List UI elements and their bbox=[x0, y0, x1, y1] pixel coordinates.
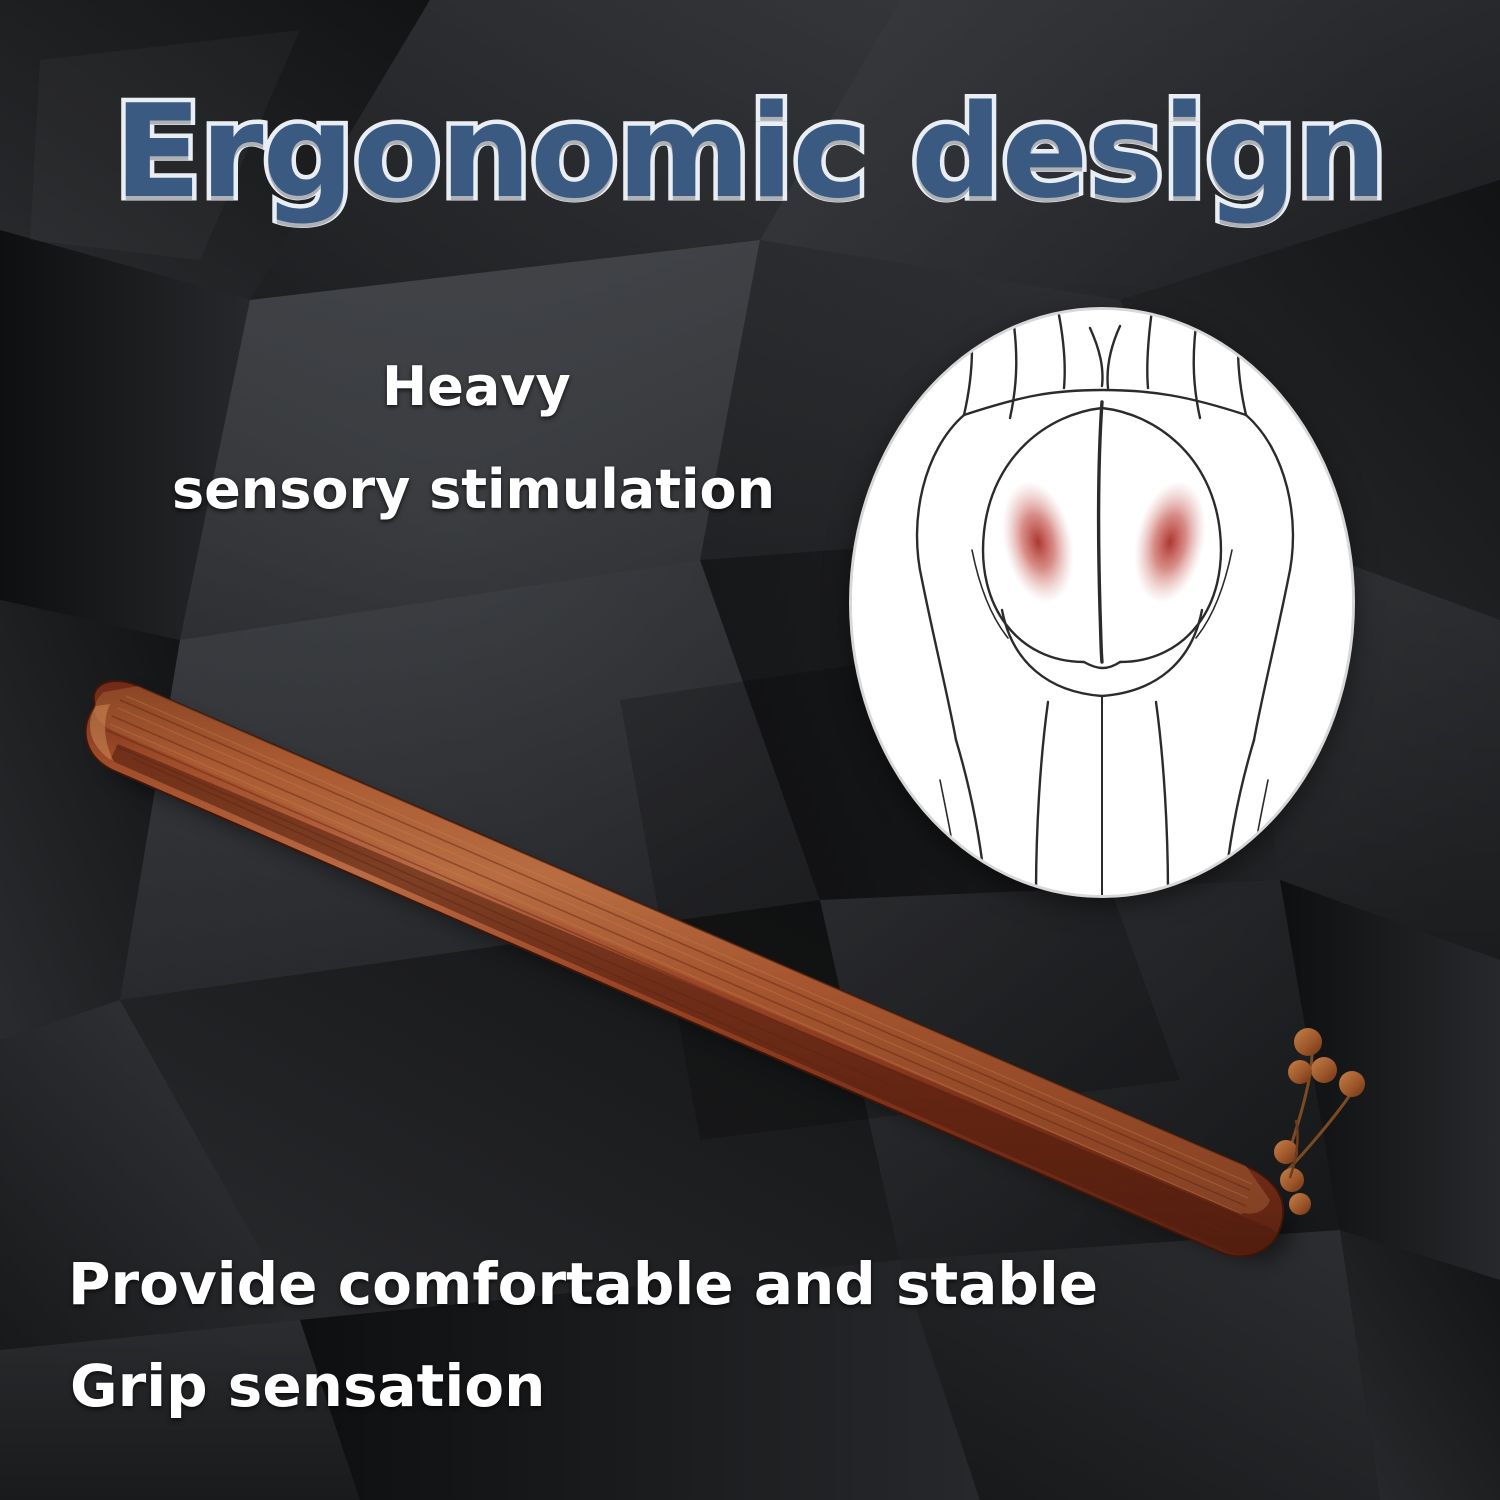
caption-sensory: sensory stimulation bbox=[172, 458, 775, 521]
circular-illustration bbox=[852, 310, 1352, 895]
product-marketing-image: Ergonomic design bbox=[0, 0, 1500, 1500]
caption-heavy: Heavy bbox=[382, 355, 571, 418]
caption-provide: Provide comfortable and stable bbox=[68, 1250, 1098, 1318]
caption-grip: Grip sensation bbox=[70, 1352, 545, 1420]
illustration-svg bbox=[852, 310, 1352, 895]
page-title: Ergonomic design bbox=[0, 78, 1500, 227]
